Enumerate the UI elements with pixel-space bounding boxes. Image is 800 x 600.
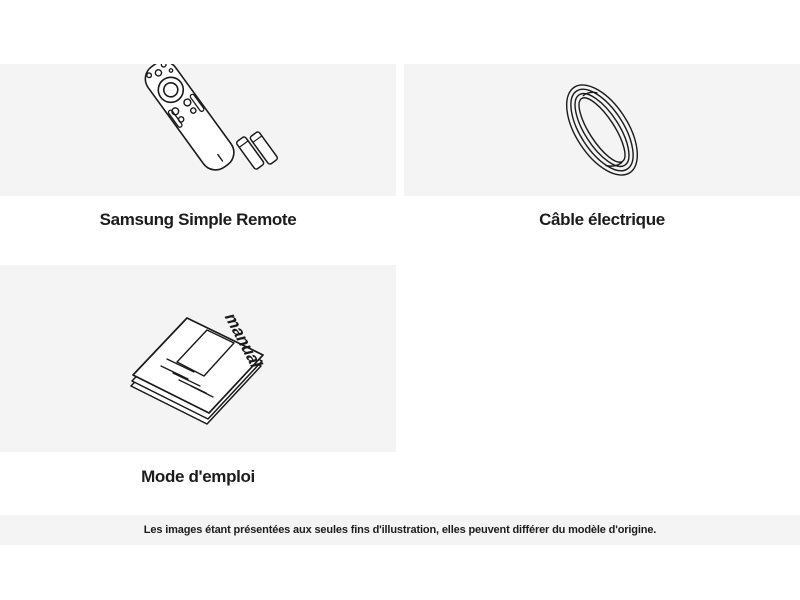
accessory-label-manual: Mode d'emploi (0, 467, 396, 487)
remote-control-with-batteries-icon (78, 64, 318, 196)
accessories-page: Samsung Simple Remote Câble électrique (0, 0, 800, 600)
disclaimer-text: Les images étant présentées aux seules f… (144, 524, 656, 536)
remote-illustration-panel (0, 64, 396, 196)
user-manual-booklet-icon: manual (103, 269, 293, 449)
accessory-label-cable: Câble électrique (404, 210, 800, 230)
accessory-card-remote: Samsung Simple Remote (0, 64, 396, 236)
cable-illustration-panel (404, 64, 800, 196)
coiled-power-cable-icon (512, 64, 692, 196)
accessory-card-cable: Câble électrique (404, 64, 800, 236)
accessory-label-remote: Samsung Simple Remote (0, 210, 396, 230)
disclaimer-bar: Les images étant présentées aux seules f… (0, 515, 800, 545)
accessory-card-manual: manual Mode d'emploi (0, 265, 396, 493)
manual-illustration-panel: manual (0, 265, 396, 452)
